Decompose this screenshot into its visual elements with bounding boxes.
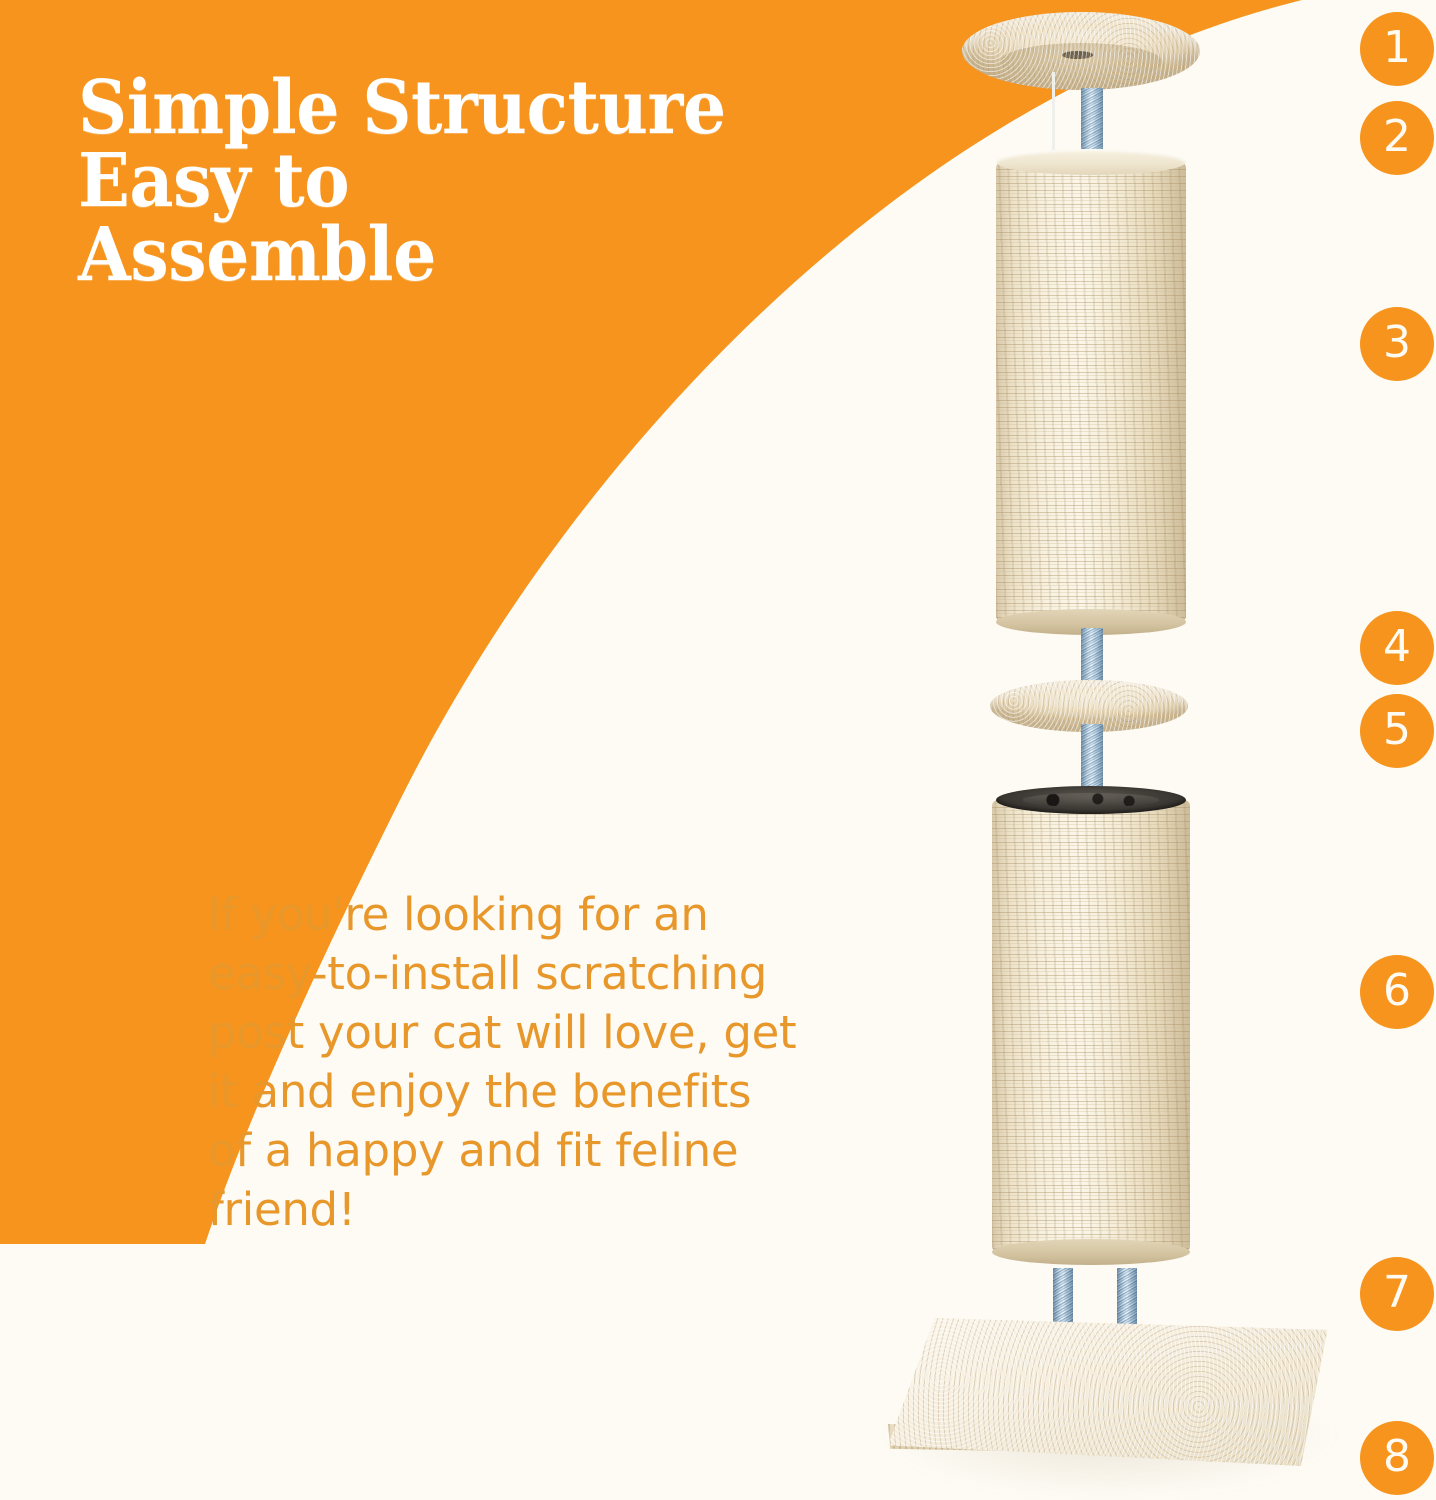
callout-badge-2-number: 2 bbox=[1383, 115, 1411, 159]
callout-badge-3-number: 3 bbox=[1383, 321, 1411, 365]
callout-badge-2[interactable]: 2 bbox=[1360, 101, 1434, 175]
body-line-3: post your cat will love, get bbox=[208, 1004, 898, 1063]
callout-badge-5-number: 5 bbox=[1383, 708, 1411, 752]
headline-line-3: Assemble bbox=[78, 219, 777, 292]
callout-badge-7[interactable]: 7 bbox=[1360, 1257, 1434, 1331]
callout-badge-8-number: 8 bbox=[1383, 1435, 1411, 1479]
body-line-6: friend! bbox=[208, 1181, 898, 1240]
threaded-rod-middle-lower bbox=[1081, 724, 1103, 790]
upper-sisal-post bbox=[996, 162, 1186, 622]
callout-badge-1-number: 1 bbox=[1383, 26, 1411, 70]
headline-line-1: Simple Structure bbox=[78, 72, 777, 145]
callout-badge-8[interactable]: 8 bbox=[1360, 1421, 1434, 1495]
headline-line-2: Easy to bbox=[78, 145, 777, 218]
callout-badge-4-number: 4 bbox=[1383, 625, 1411, 669]
body-line-1: If you're looking for an bbox=[208, 886, 898, 945]
body-paragraph: If you're looking for an easy-to-install… bbox=[208, 886, 898, 1240]
body-line-4: it and enjoy the benefits bbox=[208, 1063, 898, 1122]
page-title: Simple Structure Easy to Assemble bbox=[78, 72, 777, 292]
callout-badge-4[interactable]: 4 bbox=[1360, 611, 1434, 685]
top-plush-label-tag bbox=[1062, 51, 1093, 59]
plush-base-board bbox=[888, 1318, 1332, 1466]
lower-sisal-post bbox=[992, 800, 1190, 1252]
callout-badge-5[interactable]: 5 bbox=[1360, 694, 1434, 768]
top-plush-platform bbox=[962, 12, 1200, 90]
callout-badge-7-number: 7 bbox=[1383, 1271, 1411, 1315]
callout-badge-3[interactable]: 3 bbox=[1360, 307, 1434, 381]
callout-badge-6-number: 6 bbox=[1383, 969, 1411, 1013]
callout-badge-6[interactable]: 6 bbox=[1360, 955, 1434, 1029]
body-line-5: of a happy and fit feline bbox=[208, 1122, 898, 1181]
callout-badge-1[interactable]: 1 bbox=[1360, 12, 1434, 86]
post-dark-plastic-cap bbox=[996, 786, 1186, 814]
infographic-canvas: Simple Structure Easy to Assemble If you… bbox=[0, 0, 1436, 1500]
lower-post-bottom-rim bbox=[992, 1239, 1190, 1265]
body-line-2: easy-to-install scratching bbox=[208, 945, 898, 1004]
upper-post-top-rim bbox=[996, 149, 1186, 175]
base-plush-texture bbox=[888, 1318, 1332, 1466]
